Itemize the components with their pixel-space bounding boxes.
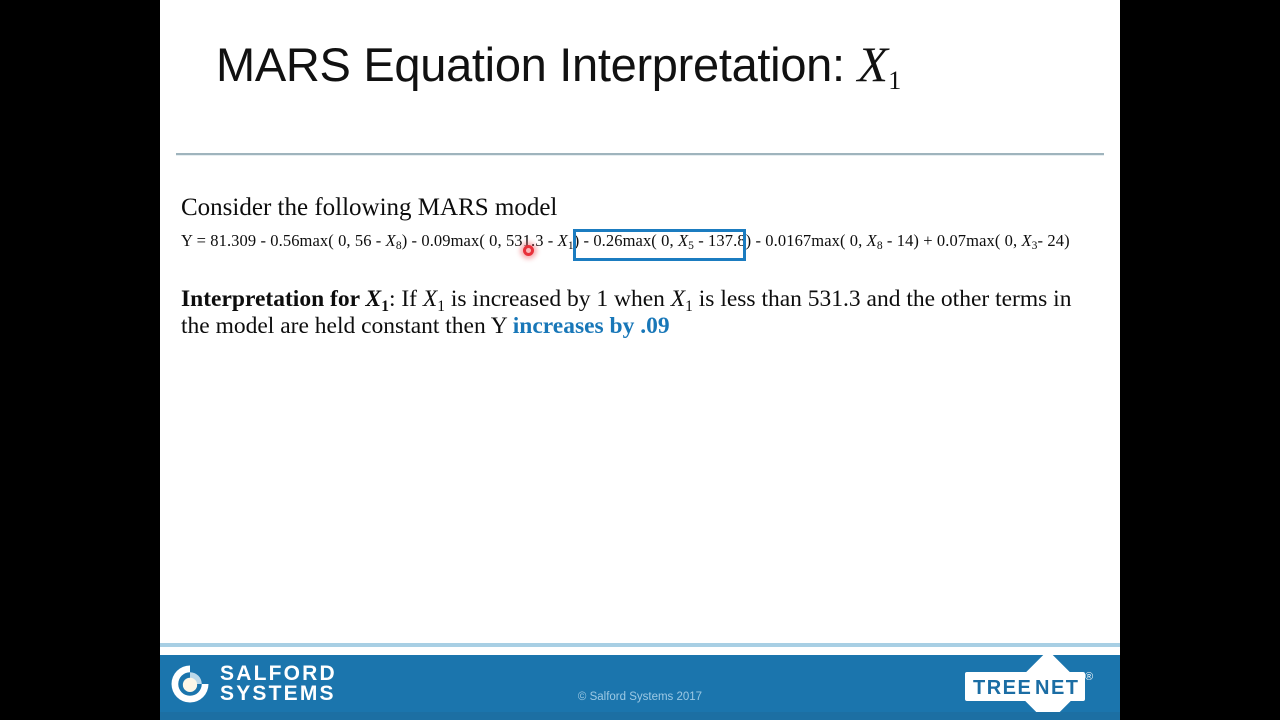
page-title-variable: X1 — [858, 36, 901, 92]
equation-var-letter: X — [867, 231, 877, 250]
title-divider-shadow — [176, 155, 1104, 156]
interpretation-part2: is increased by 1 when — [445, 286, 671, 312]
equation-var-letter: X — [386, 231, 396, 250]
cursor-dot — [523, 245, 534, 256]
interpretation-lead-var-sub: 1 — [381, 298, 389, 315]
interpretation-var3: X1 — [671, 286, 693, 312]
letterbox-left — [0, 0, 160, 720]
interpretation-lead-variable: X1 — [366, 286, 389, 312]
treenet-word-net: NET — [1035, 677, 1080, 700]
equation-seg-8: - 14) + 0.07max( 0, — [883, 231, 1022, 250]
equation-seg-10: - 24) — [1038, 231, 1070, 250]
footer-bar: SALFORD SYSTEMS © Salford Systems 2017 T… — [160, 655, 1120, 720]
footer-accent-stripe — [160, 643, 1120, 647]
interpretation-paragraph: Interpretation for X1: If X1 is increase… — [181, 286, 1101, 339]
equation-var-x1: X1 — [558, 231, 574, 250]
equation-var-sub: 8 — [396, 240, 402, 252]
interpretation-var2: X1 — [423, 286, 445, 312]
treenet-word-tree: TREE — [973, 677, 1032, 700]
interpretation-lead-var-letter: X — [366, 286, 382, 312]
equation-var-sub: 3 — [1032, 240, 1038, 252]
page-title-variable-subscript: 1 — [888, 66, 901, 95]
equation-var-letter: X — [558, 231, 568, 250]
interpretation-var3-letter: X — [671, 286, 685, 312]
interpretation-lead: Interpretation for — [181, 286, 366, 312]
interpretation-answer: increases by .09 — [513, 313, 670, 339]
equation-var-x8b: X8 — [867, 231, 883, 250]
equation-var-sub: 8 — [877, 240, 883, 252]
equation-var-x3: X3 — [1021, 231, 1037, 250]
equation-seg-2: ) - 0.09max( 0, 531.3 - — [402, 231, 558, 250]
treenet-logo: TREE NET ® — [965, 661, 1113, 713]
equation-var-x8a: X8 — [386, 231, 402, 250]
interpretation-var3-sub: 1 — [685, 298, 693, 315]
footer-bar-bottom-band — [160, 712, 1120, 720]
interpretation-var2-sub: 1 — [437, 298, 445, 315]
treenet-registered-mark: ® — [1085, 671, 1093, 683]
page-title-text: MARS Equation Interpretation: — [216, 38, 858, 91]
page-title: MARS Equation Interpretation: X1 — [216, 36, 1096, 92]
salford-wordmark-line1: SALFORD — [220, 664, 337, 684]
highlighted-term-box — [573, 229, 746, 261]
letterbox-right — [1120, 0, 1280, 720]
screen: MARS Equation Interpretation: X1 Conside… — [0, 0, 1280, 720]
equation-var-letter: X — [1021, 231, 1031, 250]
interpretation-part1: : If — [389, 286, 423, 312]
lead-line: Consider the following MARS model — [181, 194, 557, 222]
slide-canvas: MARS Equation Interpretation: X1 Conside… — [160, 0, 1120, 720]
page-title-variable-letter: X — [858, 36, 888, 92]
equation-seg-0: Y = 81.309 - 0.56max( 0, 56 - — [181, 231, 386, 250]
interpretation-var2-letter: X — [423, 286, 437, 312]
